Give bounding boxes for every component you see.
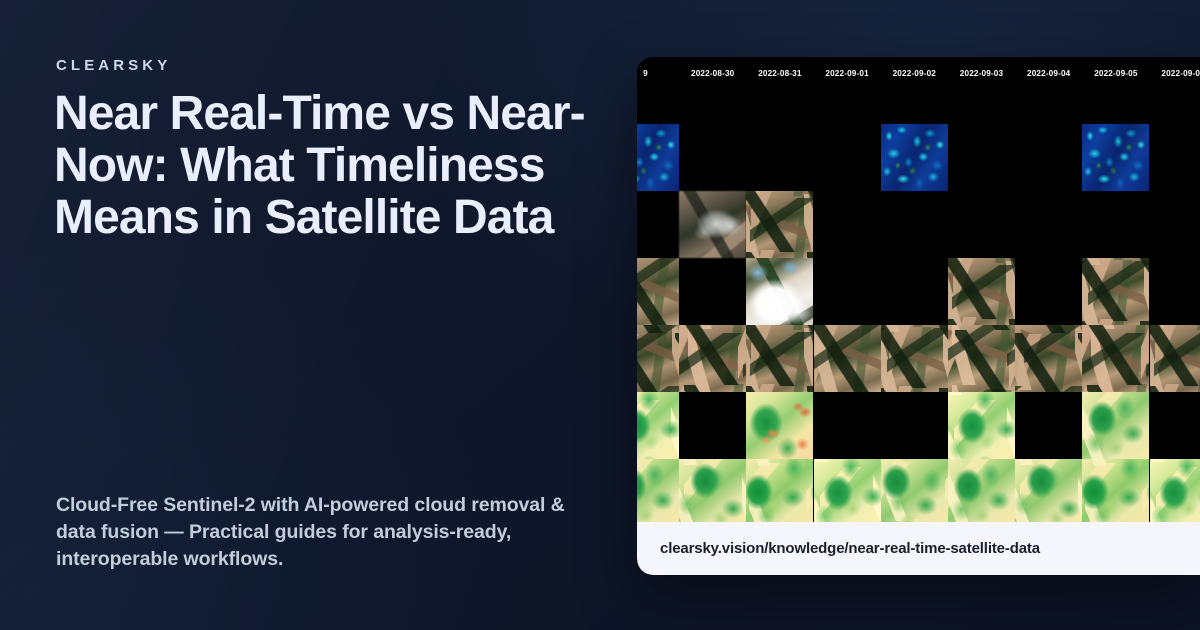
satellite-tile xyxy=(814,459,881,522)
satellite-tile xyxy=(948,325,1015,392)
satellite-tile xyxy=(814,325,881,392)
satellite-tile xyxy=(1015,325,1082,392)
date-label: 9 xyxy=(643,69,648,78)
satellite-tile xyxy=(948,459,1015,522)
satellite-tile xyxy=(746,392,813,459)
satellite-tile xyxy=(1082,124,1149,191)
satellite-tile xyxy=(1082,392,1149,459)
satellite-tile xyxy=(1082,325,1149,392)
satellite-tile xyxy=(679,459,746,522)
date-axis: 92022-08-302022-08-312022-09-012022-09-0… xyxy=(637,57,1200,88)
browser-url-bar[interactable]: clearsky.vision/knowledge/near-real-time… xyxy=(637,522,1200,575)
satellite-tile xyxy=(746,191,813,258)
date-label: 2022-09-02 xyxy=(893,69,936,78)
satellite-tile xyxy=(679,191,746,258)
date-label: 2022-09-05 xyxy=(1094,69,1137,78)
satellite-tile xyxy=(948,258,1015,325)
satellite-tile xyxy=(1082,258,1149,325)
date-label: 2022-08-30 xyxy=(691,69,734,78)
satellite-tile xyxy=(637,459,679,522)
satellite-tile xyxy=(1082,459,1149,522)
satellite-tile xyxy=(948,392,1015,459)
satellite-tile xyxy=(1150,325,1200,392)
page-title: Near Real-Time vs Near-Now: What Timelin… xyxy=(54,88,614,244)
satellite-tile xyxy=(637,325,679,392)
date-label: 2022-08-31 xyxy=(758,69,801,78)
satellite-timeseries-strip: 92022-08-302022-08-312022-09-012022-09-0… xyxy=(637,57,1200,522)
hero-text-column: CLEARSKY Near Real-Time vs Near-Now: Wha… xyxy=(56,0,616,630)
date-label: 2022-09-04 xyxy=(1027,69,1070,78)
date-label: 2022-09-03 xyxy=(960,69,1003,78)
satellite-tile xyxy=(746,258,813,325)
satellite-tile xyxy=(637,124,679,191)
satellite-tile xyxy=(746,325,813,392)
satellite-tile xyxy=(1015,459,1082,522)
page-subtitle: Cloud-Free Sentinel-2 with AI-powered cl… xyxy=(56,492,576,573)
satellite-tile xyxy=(637,392,679,459)
satellite-tile xyxy=(1150,459,1200,522)
satellite-tile xyxy=(746,459,813,522)
date-label: 2022-09-06 xyxy=(1161,69,1200,78)
satellite-tile xyxy=(881,325,948,392)
date-label: 2022-09-01 xyxy=(825,69,868,78)
browser-preview-card: 92022-08-302022-08-312022-09-012022-09-0… xyxy=(637,57,1200,575)
url-text: clearsky.vision/knowledge/near-real-time… xyxy=(660,540,1040,557)
satellite-tile xyxy=(637,258,679,325)
brand-wordmark: CLEARSKY xyxy=(56,57,171,74)
satellite-tile xyxy=(679,325,746,392)
satellite-tile xyxy=(881,459,948,522)
satellite-tile xyxy=(881,124,948,191)
tile-grid xyxy=(637,101,1200,522)
